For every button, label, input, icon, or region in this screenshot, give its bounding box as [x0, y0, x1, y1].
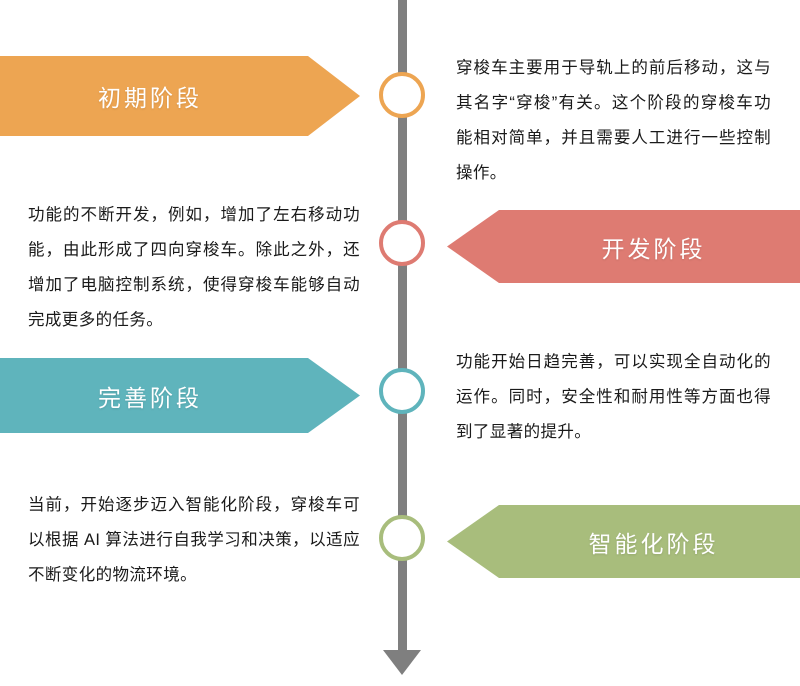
stage-banner-intelligent[interactable]: 智能化阶段 — [447, 505, 800, 578]
stage-description-refinement: 功能开始日趋完善，可以实现全自动化的运作。同时，安全性和耐用性等方面也得到了显著… — [456, 345, 771, 450]
stage-banner-refinement[interactable]: 完善阶段 — [0, 358, 360, 433]
timeline-arrowhead-icon — [383, 650, 421, 675]
stage-banner-development[interactable]: 开发阶段 — [447, 210, 800, 283]
stage-banner-initial[interactable]: 初期阶段 — [0, 56, 360, 136]
stage-banner-label-intelligent: 智能化阶段 — [589, 525, 719, 559]
timeline-node-refinement[interactable] — [379, 368, 425, 414]
timeline-node-development[interactable] — [379, 220, 425, 266]
stage-banner-label-development: 开发阶段 — [602, 230, 706, 264]
timeline-diagram: 初期阶段 穿梭车主要用于导轨上的前后移动，这与其名字“穿梭”有关。这个阶段的穿梭… — [0, 0, 800, 686]
stage-description-initial: 穿梭车主要用于导轨上的前后移动，这与其名字“穿梭”有关。这个阶段的穿梭车功能相对… — [456, 51, 771, 191]
stage-banner-label-initial: 初期阶段 — [98, 79, 202, 113]
stage-description-development: 功能的不断开发，例如，增加了左右移动功能，由此形成了四向穿梭车。除此之外，还增加… — [28, 198, 360, 338]
stage-description-intelligent: 当前，开始逐步迈入智能化阶段，穿梭车可以根据 AI 算法进行自我学习和决策，以适… — [28, 488, 360, 593]
timeline-node-intelligent[interactable] — [379, 515, 425, 561]
stage-banner-label-refinement: 完善阶段 — [98, 379, 202, 413]
timeline-node-initial[interactable] — [379, 72, 425, 118]
